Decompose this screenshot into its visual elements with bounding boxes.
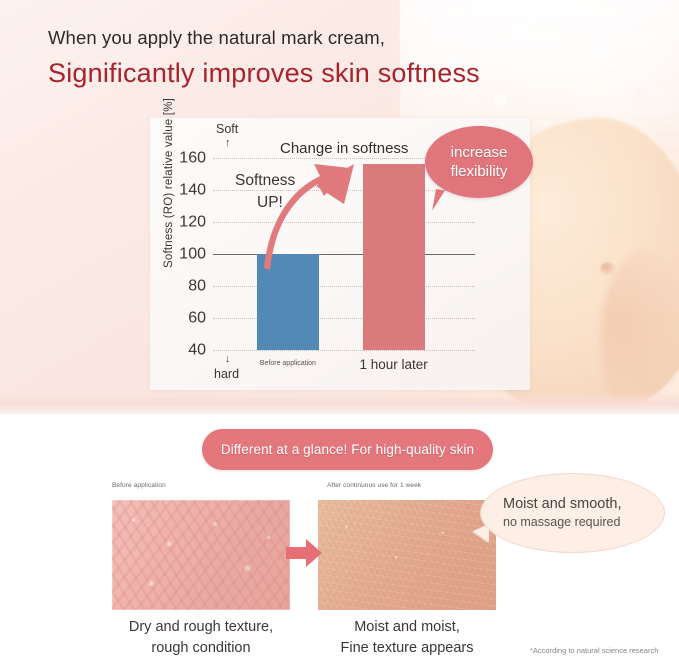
gridline: 100 [213,254,475,255]
y-axis-tick-label: 160 [179,150,206,168]
softness-chart-card: Soft ↑ ↓ hard Softness (RO) relative val… [150,118,530,390]
y-axis-top-label: Soft [216,122,238,136]
bar-before: Before application [257,254,319,350]
y-axis-tick-label: 60 [188,310,206,328]
label-after-use: After continuous use for 1 week [327,482,421,489]
caption-after-line1: Moist and moist, [354,619,460,635]
navel-detail [600,262,615,275]
hero-subheading: When you apply the natural mark cream, [48,27,385,49]
moist-smooth-callout: Moist and smooth, no massage required [480,473,665,553]
footnote: *According to natural science research [530,646,658,655]
promo-page: When you apply the natural mark cream, S… [0,0,679,663]
y-axis-tick-label: 80 [188,278,206,296]
bar-after: 1 hour later [363,164,425,350]
y-axis-tick-label: 140 [179,182,206,200]
callout-line2: no massage required [503,514,620,531]
banner-label: Different at a glance! For high-quality … [221,442,474,457]
hero-heading: Significantly improves skin softness [48,58,480,89]
gridline: 80 [213,286,475,287]
skin-image-after [318,500,496,610]
gridline: 40 [213,350,475,351]
gridline: 60 [213,318,475,319]
caption-before: Dry and rough texture, rough condition [112,617,290,659]
highlight-banner: Different at a glance! For high-quality … [202,429,493,470]
caption-after-line2: Fine texture appears [341,640,474,656]
callout-line1: Moist and smooth, [503,495,621,515]
caption-after: Moist and moist, Fine texture appears [318,617,496,659]
caption-before-line1: Dry and rough texture, [129,619,273,635]
hero-section: When you apply the natural mark cream, S… [0,0,679,414]
y-axis-tick-label: 100 [179,246,206,264]
y-axis-title: Softness (RO) relative value [%] [163,98,175,268]
right-arrow-icon [286,538,322,568]
skin-image-before [112,500,290,610]
y-axis-up-arrow-icon: ↑ [225,138,231,149]
bar-category-label: Before application [260,360,316,367]
increase-flexibility-bubble: increase flexibility [425,126,533,198]
chart-plot-area: 160140120100806040Before application1 ho… [213,158,471,350]
bubble-line2: flexibility [451,162,508,182]
caption-before-line2: rough condition [151,640,250,656]
hero-bottom-fade [0,392,679,414]
y-axis-tick-label: 40 [188,342,206,360]
bubble-line1: increase [451,143,508,163]
gridline: 120 [213,222,475,223]
label-before-application: Before application [112,482,166,489]
y-axis-down-arrow-icon: ↓ [225,354,231,365]
y-axis-bottom-label: hard [214,367,239,381]
bar-category-label: 1 hour later [359,357,427,372]
y-axis-tick-label: 120 [179,214,206,232]
chart-title: Change in softness [280,140,408,157]
